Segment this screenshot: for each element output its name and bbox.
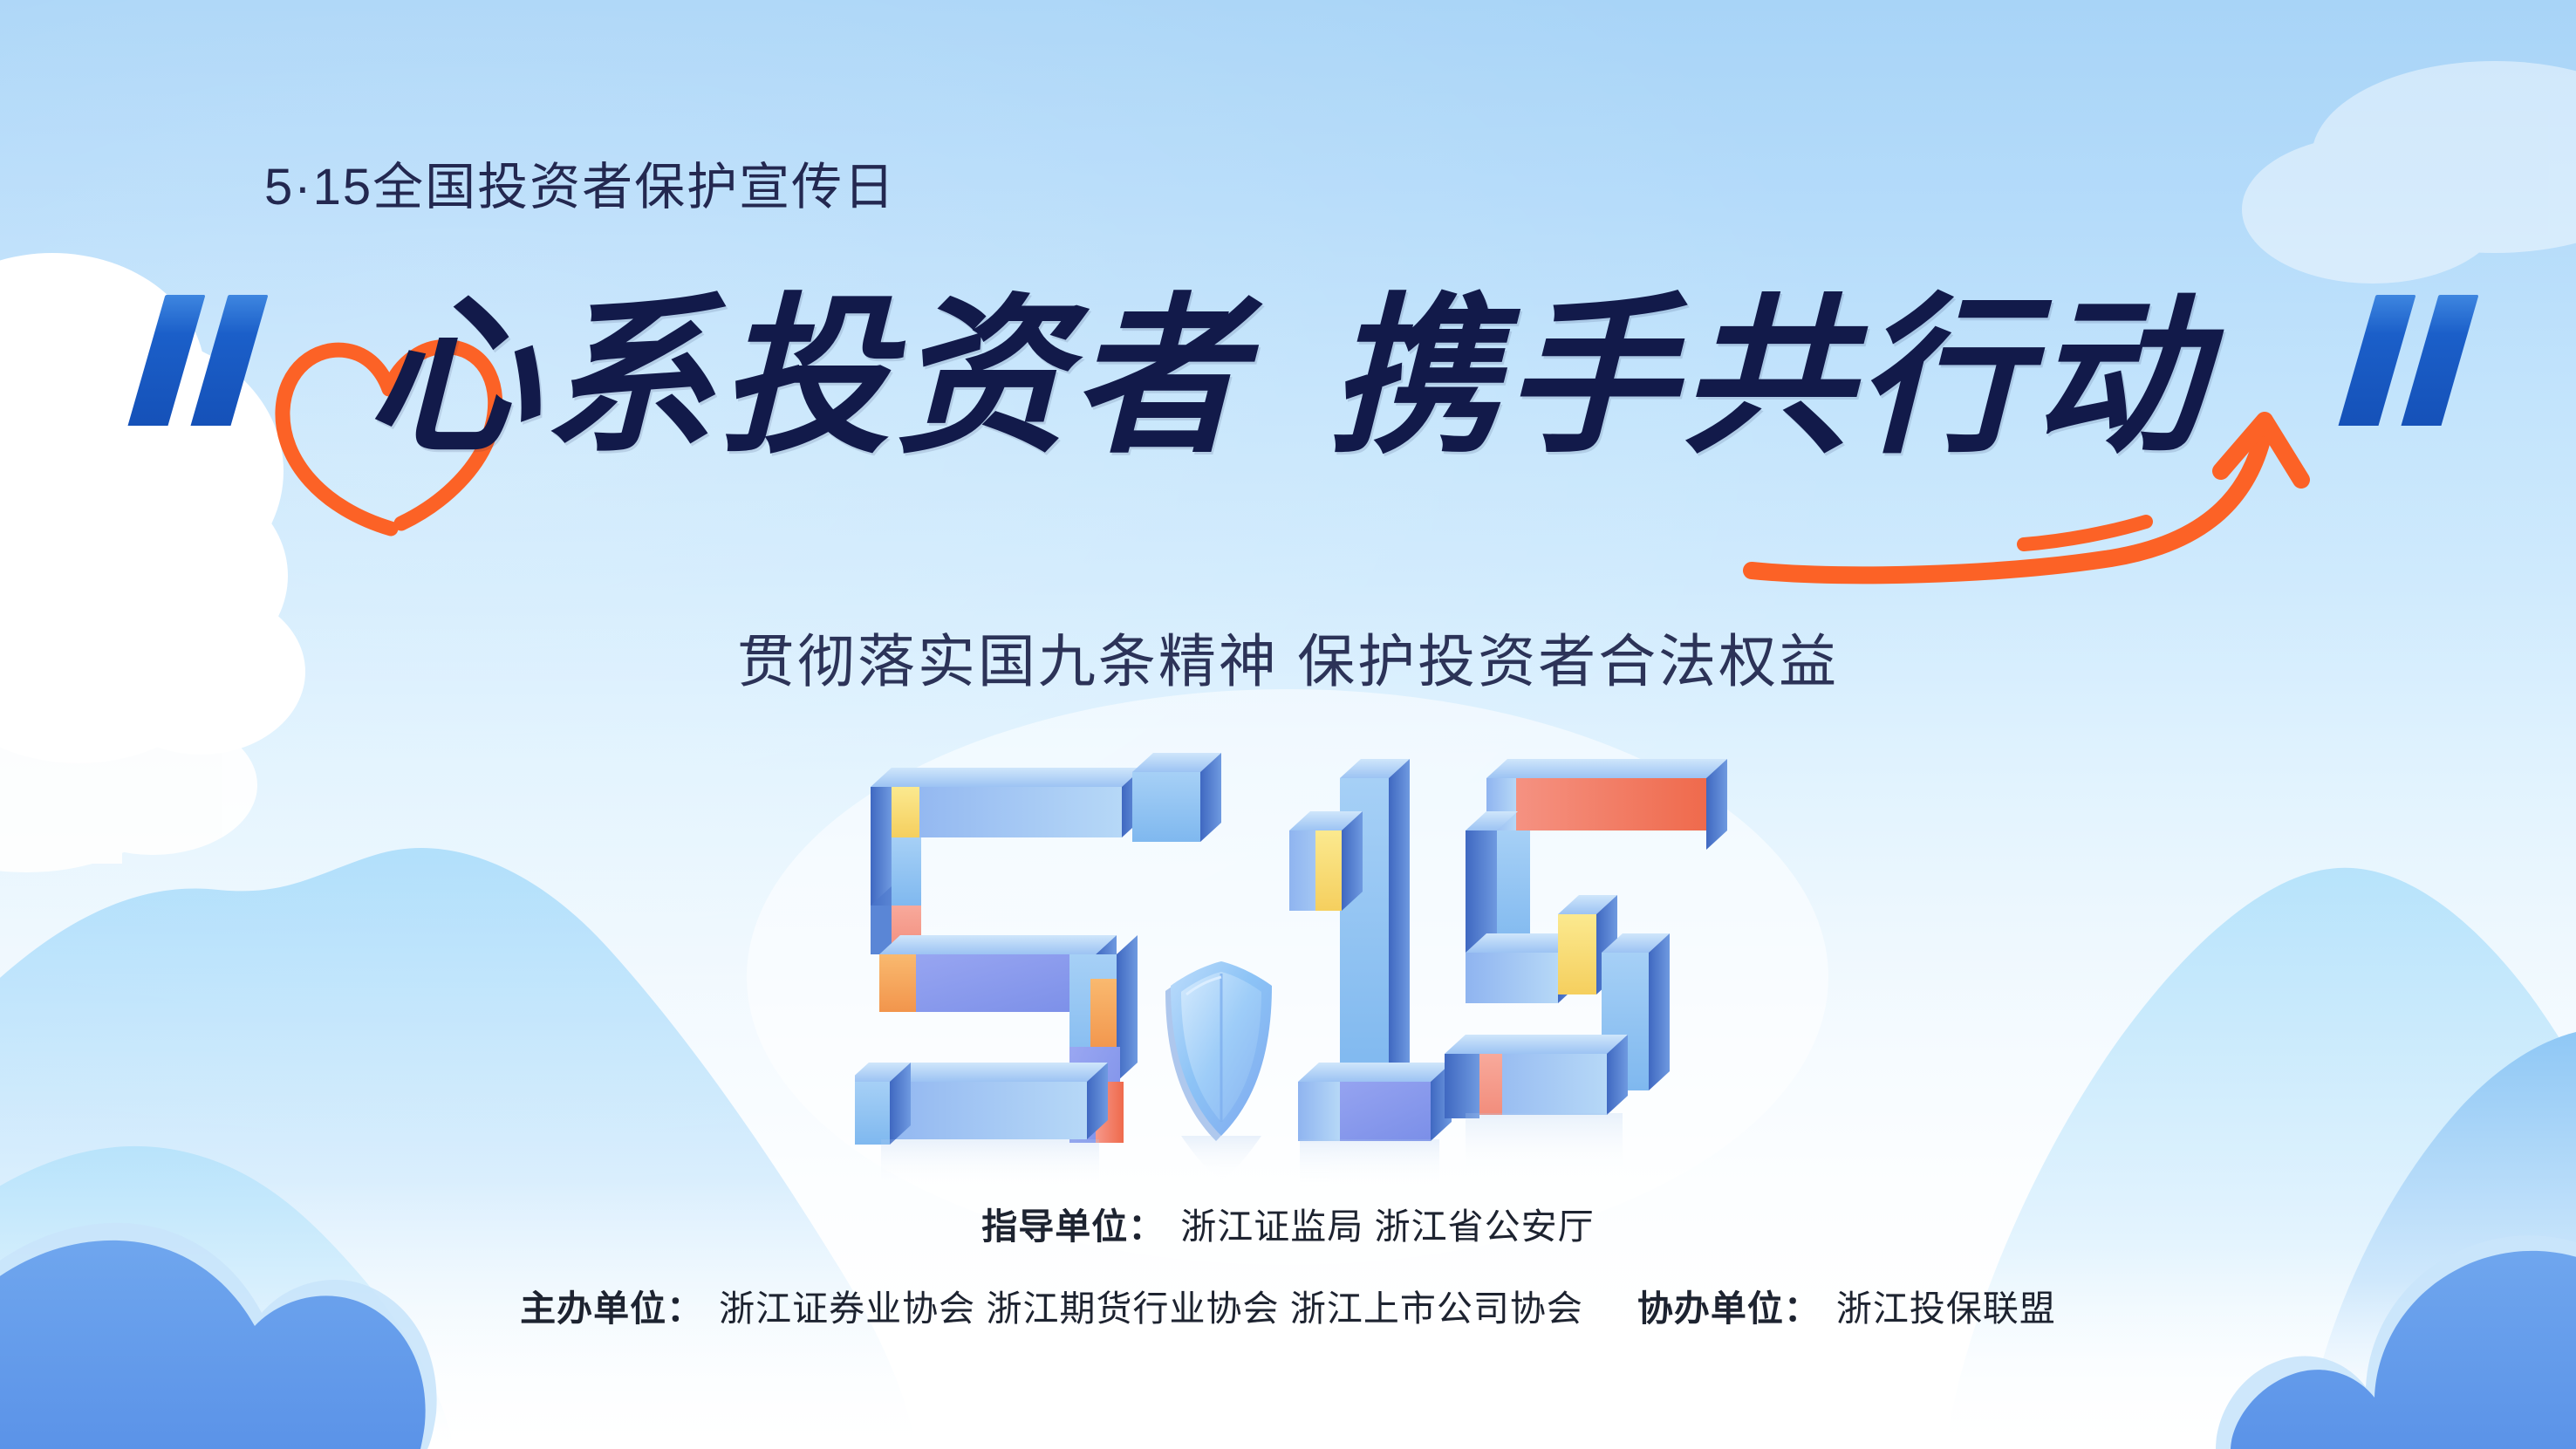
slogan-part-1: 心系投资者: [366, 288, 1247, 468]
host-label: 主办单位：: [520, 1288, 703, 1329]
logo-digit-5-right: [1445, 759, 1727, 1118]
mountain-far-left: [0, 848, 916, 1449]
cloud-cluster-right: [2242, 61, 2576, 284]
shield-icon: [1165, 961, 1272, 1141]
mountain-right-soft: [1945, 868, 2576, 1449]
credit-line-organizers: 主办单位：浙江证券业协会 浙江期货行业协会 浙江上市公司协会协办单位：浙江投保联…: [0, 1279, 2576, 1331]
host-orgs: 浙江证券业协会 浙江期货行业协会 浙江上市公司协会: [719, 1288, 1583, 1329]
slogan-part-2: 携手共行动: [1329, 288, 2210, 468]
logo-515-3d: [855, 733, 1727, 1186]
slogan-subtitle: 贯彻落实国九条精神 保护投资者合法权益: [0, 615, 2576, 699]
logo-digit-5-left: [855, 753, 1221, 1145]
poster-canvas: 5·15全国投资者保护宣传日 心系投资者 携手共行动 贯彻落实国九条精神 保护投…: [0, 0, 2576, 1449]
cloud-mountain-bottom-left: [0, 1223, 437, 1449]
cloud-mountain-bottom-right: [2216, 1235, 2576, 1449]
main-slogan: 心系投资者 携手共行动: [0, 288, 2576, 468]
credit-line-guidance: 指导单位：浙江证监局 浙江省公安厅: [0, 1197, 2576, 1249]
campaign-day-title: 5·15全国投资者保护宣传日: [264, 146, 896, 219]
coorganizer-orgs: 浙江投保联盟: [1836, 1288, 2056, 1329]
guidance-orgs: 浙江证监局 浙江省公安厅: [1180, 1206, 1594, 1247]
logo-digit-1: [1289, 759, 1452, 1141]
guidance-label: 指导单位：: [981, 1206, 1165, 1247]
coorganizer-label: 协办单位：: [1637, 1288, 1821, 1329]
